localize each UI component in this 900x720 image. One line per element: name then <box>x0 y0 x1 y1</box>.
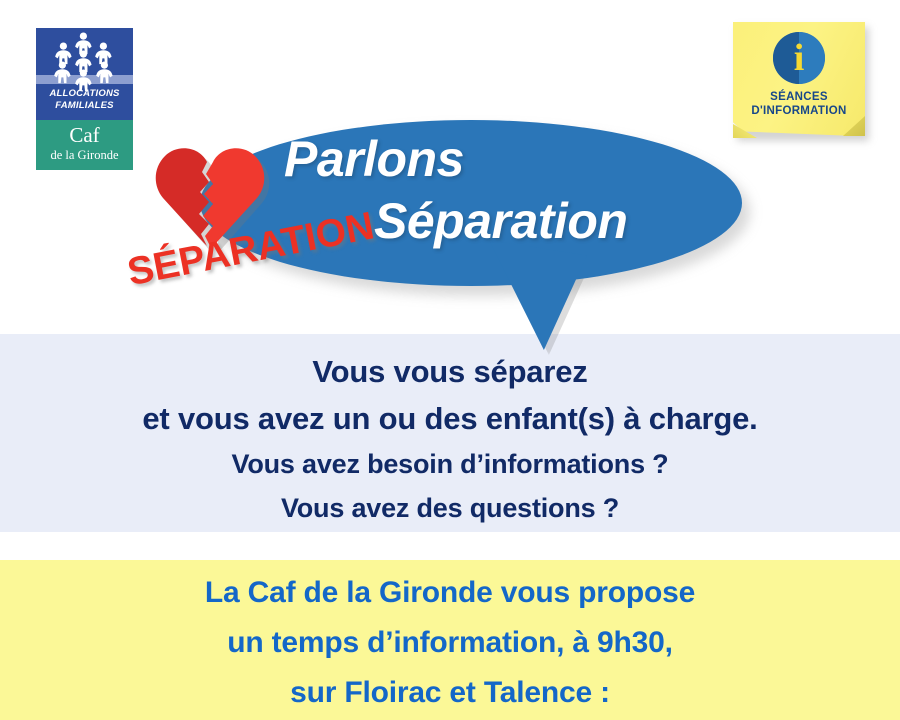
speech-bubble-line-1: Parlons <box>270 128 690 190</box>
offer-line-3: sur Floirac et Talence : <box>0 668 900 718</box>
info-circle-icon: i <box>773 32 825 84</box>
offer-line-1: La Caf de la Gironde vous propose <box>0 568 900 618</box>
note-text-line-2: D'INFORMATION <box>751 104 846 118</box>
logo-department: de la Gironde <box>36 148 133 162</box>
question-line-2: et vous avez un ou des enfant(s) à charg… <box>0 395 900 442</box>
logo-caption-line-2: FAMILIALES <box>36 100 133 112</box>
logo-top-panel: ALLOCATIONS FAMILIALES <box>36 28 133 120</box>
note-text-line-1: SÉANCES <box>751 90 846 104</box>
logo-caption: ALLOCATIONS FAMILIALES <box>36 88 133 111</box>
caf-logo: ALLOCATIONS FAMILIALES Caf de la Gironde <box>36 28 133 170</box>
seances-information-note: i SÉANCES D'INFORMATION <box>733 22 865 138</box>
heart-left-half <box>156 148 209 246</box>
logo-bottom-panel: Caf de la Gironde <box>36 120 133 170</box>
family-figures-icon <box>36 28 133 94</box>
question-line-4: Vous avez des questions ? <box>0 486 900 530</box>
question-block: Vous vous séparez et vous avez un ou des… <box>0 334 900 532</box>
poster-canvas: ALLOCATIONS FAMILIALES Caf de la Gironde… <box>0 0 900 720</box>
offer-line-2: un temps d’information, à 9h30, <box>0 618 900 668</box>
note-text: SÉANCES D'INFORMATION <box>751 90 846 118</box>
info-glyph: i <box>773 32 825 84</box>
note-content: i SÉANCES D'INFORMATION <box>733 22 865 136</box>
logo-caption-line-1: ALLOCATIONS <box>36 88 133 100</box>
logo-brand: Caf <box>36 120 133 148</box>
offer-block: La Caf de la Gironde vous propose un tem… <box>0 560 900 720</box>
question-line-3: Vous avez besoin d’informations ? <box>0 442 900 486</box>
